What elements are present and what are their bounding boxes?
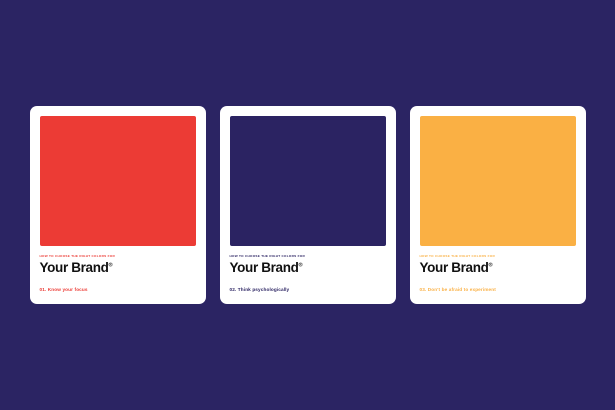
color-swatch-red: [40, 116, 196, 246]
card-eyebrow-2: HOW TO CHOOSE THE RIGHT COLORS FOR: [230, 255, 386, 258]
color-card-1[interactable]: HOW TO CHOOSE THE RIGHT COLORS FOR Your …: [30, 106, 206, 304]
card-caption-1: 01. Know your focus: [40, 287, 196, 292]
color-swatch-orange: [420, 116, 576, 246]
registered-trademark-icon-1: ®: [109, 263, 113, 269]
color-card-2[interactable]: HOW TO CHOOSE THE RIGHT COLORS FOR Your …: [220, 106, 396, 304]
card-eyebrow-3: HOW TO CHOOSE THE RIGHT COLORS FOR: [420, 255, 576, 258]
brand-name-text-1: Your Brand: [40, 260, 109, 275]
card-brand-title-1: Your Brand®: [40, 260, 196, 276]
card-caption-2: 02. Think psychologically: [230, 287, 386, 292]
registered-trademark-icon-3: ®: [489, 263, 493, 269]
color-card-3[interactable]: HOW TO CHOOSE THE RIGHT COLORS FOR Your …: [410, 106, 586, 304]
card-text-block-3: HOW TO CHOOSE THE RIGHT COLORS FOR Your …: [420, 246, 576, 292]
card-eyebrow-1: HOW TO CHOOSE THE RIGHT COLORS FOR: [40, 255, 196, 258]
card-text-block-1: HOW TO CHOOSE THE RIGHT COLORS FOR Your …: [40, 246, 196, 292]
brand-name-text-2: Your Brand: [230, 260, 299, 275]
registered-trademark-icon-2: ®: [299, 263, 303, 269]
color-swatch-navy: [230, 116, 386, 246]
card-caption-3: 03. Don't be afraid to experiment: [420, 287, 576, 292]
card-brand-title-2: Your Brand®: [230, 260, 386, 276]
card-text-block-2: HOW TO CHOOSE THE RIGHT COLORS FOR Your …: [230, 246, 386, 292]
brand-name-text-3: Your Brand: [420, 260, 489, 275]
card-brand-title-3: Your Brand®: [420, 260, 576, 276]
slide-canvas: HOW TO CHOOSE THE RIGHT COLORS FOR Your …: [0, 0, 615, 410]
